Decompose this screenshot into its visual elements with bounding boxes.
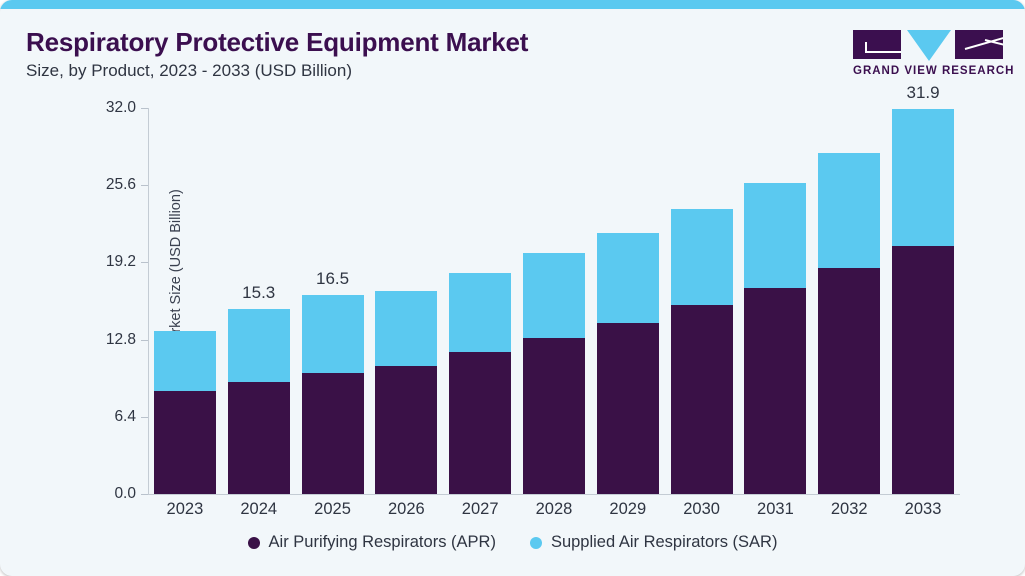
chart-card: Respiratory Protective Equipment Market … bbox=[0, 0, 1025, 576]
y-axis-tick: 6.4 bbox=[86, 408, 148, 426]
plot-area: Market Size (USD Billion) 0.06.412.819.2… bbox=[148, 100, 960, 495]
x-axis-tick-label: 2024 bbox=[228, 500, 290, 526]
bar-segment-apr[interactable] bbox=[449, 352, 511, 494]
bar-segment-sar[interactable] bbox=[818, 153, 880, 269]
y-axis-tick: 0.0 bbox=[86, 485, 148, 503]
y-axis-tick: 25.6 bbox=[86, 176, 148, 194]
bar-group[interactable]: 15.3 bbox=[228, 100, 290, 494]
x-axis-tick-label: 2026 bbox=[375, 500, 437, 526]
chart-header: Respiratory Protective Equipment Market … bbox=[0, 9, 1025, 91]
y-axis-tick: 12.8 bbox=[86, 331, 148, 349]
bar-segment-apr[interactable] bbox=[818, 268, 880, 494]
bar-group[interactable] bbox=[744, 100, 806, 494]
bar-segment-sar[interactable] bbox=[154, 331, 216, 391]
legend-swatch-icon bbox=[530, 537, 542, 549]
chart-subtitle: Size, by Product, 2023 - 2033 (USD Billi… bbox=[26, 61, 352, 81]
bar-segment-sar[interactable] bbox=[228, 309, 290, 381]
bar-segment-apr[interactable] bbox=[523, 338, 585, 494]
x-axis-tick-label: 2028 bbox=[523, 500, 585, 526]
bar-value-label: 16.5 bbox=[282, 269, 384, 289]
x-axis-line bbox=[148, 494, 960, 495]
bar-segment-apr[interactable] bbox=[597, 323, 659, 494]
bar-stack[interactable]: 31.9 bbox=[892, 109, 954, 494]
bar-segment-sar[interactable] bbox=[744, 183, 806, 288]
x-axis-labels: 2023202420252026202720282029203020312032… bbox=[148, 500, 960, 526]
bar-segment-apr[interactable] bbox=[744, 288, 806, 494]
bar-group[interactable] bbox=[523, 100, 585, 494]
top-accent-bar bbox=[0, 0, 1025, 9]
bar-segment-apr[interactable] bbox=[302, 373, 364, 494]
bar-stack[interactable] bbox=[523, 253, 585, 494]
legend-label: Air Purifying Respirators (APR) bbox=[269, 533, 496, 552]
bar-group[interactable]: 31.9 bbox=[892, 100, 954, 494]
bar-stack[interactable]: 15.3 bbox=[228, 309, 290, 494]
bar-segment-sar[interactable] bbox=[449, 273, 511, 351]
bar-segment-apr[interactable] bbox=[154, 391, 216, 494]
chart-title: Respiratory Protective Equipment Market bbox=[26, 27, 528, 58]
bar-segment-sar[interactable] bbox=[302, 295, 364, 373]
bar-segment-sar[interactable] bbox=[523, 253, 585, 339]
logo-left-rect-icon bbox=[853, 30, 901, 59]
bar-group[interactable] bbox=[449, 100, 511, 494]
bar-stack[interactable] bbox=[744, 183, 806, 494]
bar-series-container: 15.316.531.9 bbox=[148, 100, 960, 494]
bar-stack[interactable] bbox=[154, 331, 216, 494]
x-axis-tick-label: 2023 bbox=[154, 500, 216, 526]
bar-group[interactable] bbox=[671, 100, 733, 494]
legend-swatch-icon bbox=[248, 537, 260, 549]
x-axis-tick-label: 2025 bbox=[302, 500, 364, 526]
grand-view-research-logo: GRAND VIEW RESEARCH bbox=[853, 28, 1003, 84]
bar-group[interactable]: 16.5 bbox=[302, 100, 364, 494]
bar-stack[interactable] bbox=[671, 209, 733, 494]
bar-stack[interactable] bbox=[818, 153, 880, 494]
bar-segment-sar[interactable] bbox=[892, 109, 954, 245]
bar-value-label: 31.9 bbox=[872, 83, 974, 103]
bar-stack[interactable]: 16.5 bbox=[302, 295, 364, 494]
bar-stack[interactable] bbox=[375, 291, 437, 494]
bar-segment-sar[interactable] bbox=[375, 291, 437, 366]
x-axis-tick-label: 2030 bbox=[671, 500, 733, 526]
bar-stack[interactable] bbox=[597, 233, 659, 494]
logo-wordmark: GRAND VIEW RESEARCH bbox=[853, 65, 1003, 77]
x-axis-tick-label: 2033 bbox=[892, 500, 954, 526]
bar-segment-apr[interactable] bbox=[375, 366, 437, 494]
bar-group[interactable] bbox=[597, 100, 659, 494]
legend-label: Supplied Air Respirators (SAR) bbox=[551, 533, 778, 552]
bar-group[interactable] bbox=[818, 100, 880, 494]
bar-stack[interactable] bbox=[449, 273, 511, 494]
bar-segment-apr[interactable] bbox=[671, 305, 733, 494]
chart-legend: Air Purifying Respirators (APR)Supplied … bbox=[0, 533, 1025, 552]
legend-item[interactable]: Air Purifying Respirators (APR) bbox=[248, 533, 496, 552]
y-axis-tick: 19.2 bbox=[86, 253, 148, 271]
bar-segment-apr[interactable] bbox=[892, 246, 954, 494]
logo-marks bbox=[853, 28, 1003, 60]
logo-triangle-icon bbox=[907, 30, 951, 61]
x-axis-tick-label: 2031 bbox=[744, 500, 806, 526]
y-axis-tick: 32.0 bbox=[86, 99, 148, 117]
bar-group[interactable] bbox=[375, 100, 437, 494]
legend-item[interactable]: Supplied Air Respirators (SAR) bbox=[530, 533, 778, 552]
bar-group[interactable] bbox=[154, 100, 216, 494]
x-axis-tick-label: 2029 bbox=[597, 500, 659, 526]
bar-segment-apr[interactable] bbox=[228, 382, 290, 494]
logo-right-rect-icon bbox=[955, 30, 1003, 59]
x-axis-tick-label: 2032 bbox=[818, 500, 880, 526]
bar-segment-sar[interactable] bbox=[671, 209, 733, 304]
x-axis-tick-label: 2027 bbox=[449, 500, 511, 526]
bar-segment-sar[interactable] bbox=[597, 233, 659, 322]
